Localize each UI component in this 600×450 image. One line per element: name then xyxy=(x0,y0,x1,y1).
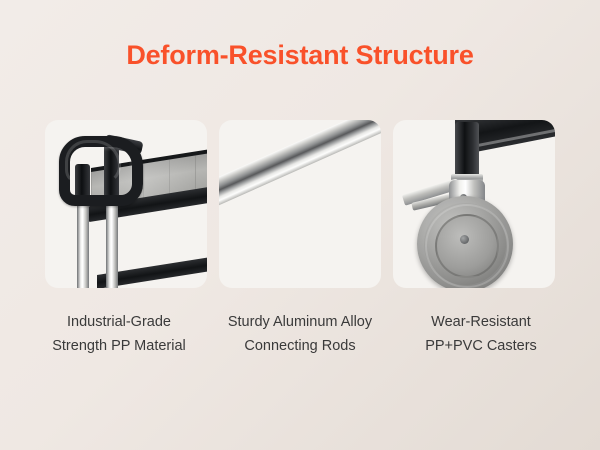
caption-aluminum-rod-line2: Connecting Rods xyxy=(211,334,389,358)
cart-aluminum-post-mid xyxy=(106,192,118,288)
feature-card-casters xyxy=(393,120,555,288)
page-title: Deform-Resistant Structure xyxy=(0,40,600,71)
feature-card-aluminum-rod xyxy=(219,120,381,288)
feature-banner: Deform-Resistant Structure xyxy=(0,0,600,450)
caster-black-post xyxy=(455,122,479,180)
caption-casters: Wear-Resistant PP+PVC Casters xyxy=(392,310,570,358)
feature-card-pp-material xyxy=(45,120,207,288)
caption-aluminum-rod-line1: Sturdy Aluminum Alloy xyxy=(228,314,372,330)
caption-casters-line1: Wear-Resistant xyxy=(431,314,531,330)
feature-caption-row: Industrial-Grade Strength PP Material St… xyxy=(30,310,570,358)
caption-pp-material-line2: Strength PP Material xyxy=(30,334,208,358)
aluminum-rod xyxy=(219,120,381,211)
caster-wheel-hub xyxy=(460,235,469,244)
caption-pp-material: Industrial-Grade Strength PP Material xyxy=(30,310,208,358)
feature-card-row xyxy=(45,120,555,288)
caption-pp-material-line1: Industrial-Grade xyxy=(67,314,171,330)
caption-casters-line2: PP+PVC Casters xyxy=(392,334,570,358)
caster-wheel-inner-ring xyxy=(435,214,499,278)
caption-aluminum-rod: Sturdy Aluminum Alloy Connecting Rods xyxy=(211,310,389,358)
cart-handle-highlight xyxy=(65,140,121,184)
